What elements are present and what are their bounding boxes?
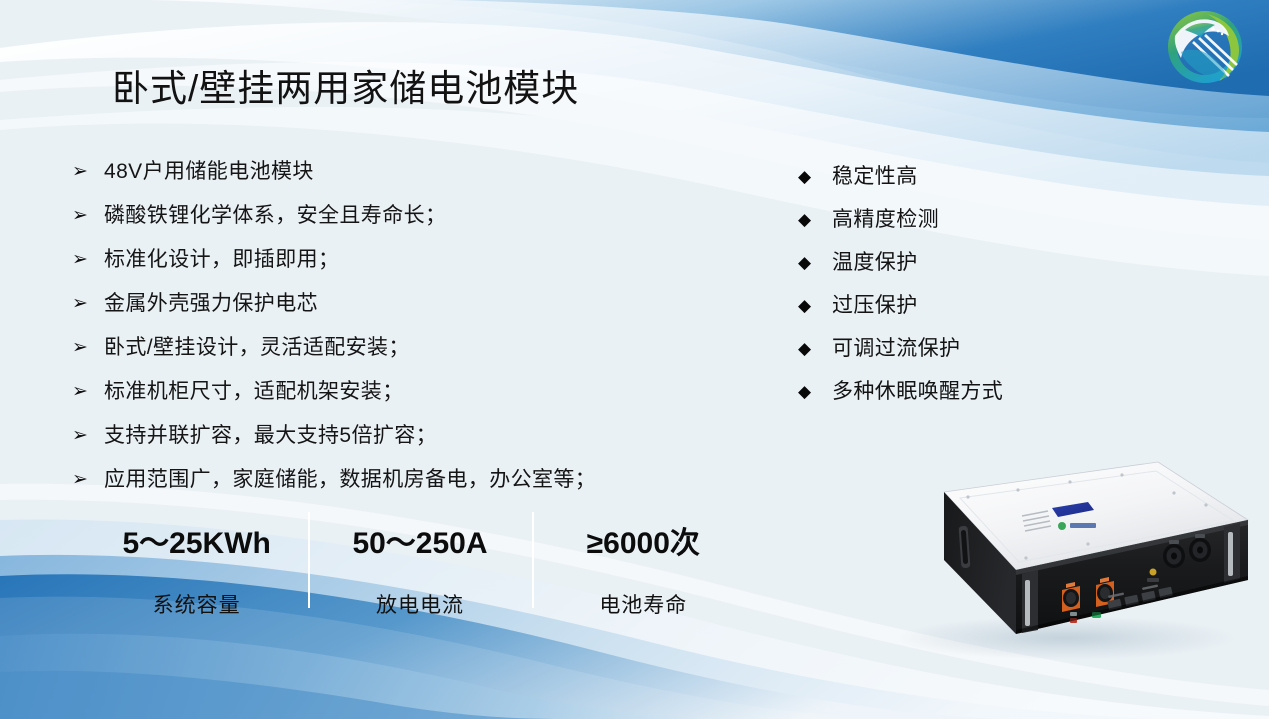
leaf-logo-icon xyxy=(1163,8,1247,92)
arrow-bullet-icon: ➢ xyxy=(72,150,104,194)
diamond-bullet-icon: ◆ xyxy=(798,327,832,370)
spec-value: ≥6000次 xyxy=(587,518,700,562)
list-item: ◆ 可调过流保护 xyxy=(798,327,1098,370)
spec-value: 50～250A xyxy=(352,518,487,562)
company-logo xyxy=(1163,8,1247,92)
list-item: ➢ 卧式/壁挂设计，灵活适配安装； xyxy=(72,326,712,370)
arrow-bullet-icon: ➢ xyxy=(72,194,104,238)
diamond-bullet-icon: ◆ xyxy=(798,198,832,241)
diamond-bullet-icon: ◆ xyxy=(798,284,832,327)
list-item: ➢ 金属外壳强力保护电芯 xyxy=(72,282,712,326)
arrow-bullet-icon: ➢ xyxy=(72,326,104,370)
list-item: ➢ 磷酸铁锂化学体系，安全且寿命长； xyxy=(72,194,712,238)
key-specs-strip: 5～25KWh 系统容量 50～250A 放电电流 ≥6000次 电池寿命 xyxy=(85,518,755,618)
feature-text: 稳定性高 xyxy=(832,155,918,198)
arrow-bullet-icon: ➢ xyxy=(72,282,104,326)
list-item: ◆ 温度保护 xyxy=(798,241,1098,284)
spec-cycle-life: ≥6000次 电池寿命 xyxy=(532,518,755,618)
arrow-bullet-icon: ➢ xyxy=(72,458,104,502)
feature-text: 多种休眠唤醒方式 xyxy=(832,370,1003,413)
list-item: ◆ 高精度检测 xyxy=(798,198,1098,241)
diamond-bullet-icon: ◆ xyxy=(798,155,832,198)
battery-module-photo xyxy=(856,448,1252,660)
list-item: ➢ 应用范围广，家庭储能，数据机房备电，办公室等； xyxy=(72,458,712,502)
spec-label: 放电电流 xyxy=(376,589,464,619)
right-feature-list: ◆ 稳定性高 ◆ 高精度检测 ◆ 温度保护 ◆ 过压保护 ◆ 可调过流保护 ◆ … xyxy=(798,155,1098,413)
slide-canvas: 卧式/壁挂两用家储电池模块 ➢ 48V户用储能电池模块 ➢ 磷酸铁锂化学体系，安… xyxy=(0,0,1269,719)
diamond-bullet-icon: ◆ xyxy=(798,370,832,413)
arrow-bullet-icon: ➢ xyxy=(72,238,104,282)
spec-value: 5～25KWh xyxy=(122,518,270,562)
page-title: 卧式/壁挂两用家储电池模块 xyxy=(112,58,579,112)
feature-text: 过压保护 xyxy=(832,284,918,327)
arrow-bullet-icon: ➢ xyxy=(72,414,104,458)
left-feature-list: ➢ 48V户用储能电池模块 ➢ 磷酸铁锂化学体系，安全且寿命长； ➢ 标准化设计… xyxy=(72,150,712,502)
list-item: ◆ 稳定性高 xyxy=(798,155,1098,198)
spec-label: 电池寿命 xyxy=(599,589,687,619)
feature-text: 48V户用储能电池模块 xyxy=(104,150,314,194)
list-item: ◆ 过压保护 xyxy=(798,284,1098,327)
feature-text: 金属外壳强力保护电芯 xyxy=(104,282,318,326)
arrow-bullet-icon: ➢ xyxy=(72,370,104,414)
list-item: ➢ 48V户用储能电池模块 xyxy=(72,150,712,194)
feature-text: 应用范围广，家庭储能，数据机房备电，办公室等； xyxy=(104,458,596,502)
spec-discharge-current: 50～250A 放电电流 xyxy=(308,518,531,618)
feature-text: 标准机柜尺寸，适配机架安装； xyxy=(104,370,404,414)
feature-text: 温度保护 xyxy=(832,241,918,284)
feature-text: 支持并联扩容，最大支持5倍扩容； xyxy=(104,414,437,458)
feature-text: 可调过流保护 xyxy=(832,327,960,370)
diamond-bullet-icon: ◆ xyxy=(798,241,832,284)
list-item: ➢ 标准机柜尺寸，适配机架安装； xyxy=(72,370,712,414)
feature-text: 标准化设计，即插即用； xyxy=(104,238,339,282)
list-item: ➢ 支持并联扩容，最大支持5倍扩容； xyxy=(72,414,712,458)
spec-label: 系统容量 xyxy=(153,589,241,619)
feature-text: 磷酸铁锂化学体系，安全且寿命长； xyxy=(104,194,446,238)
spec-capacity: 5～25KWh 系统容量 xyxy=(85,518,308,618)
feature-text: 卧式/壁挂设计，灵活适配安装； xyxy=(104,326,410,370)
list-item: ➢ 标准化设计，即插即用； xyxy=(72,238,712,282)
feature-text: 高精度检测 xyxy=(832,198,939,241)
list-item: ◆ 多种休眠唤醒方式 xyxy=(798,370,1098,413)
